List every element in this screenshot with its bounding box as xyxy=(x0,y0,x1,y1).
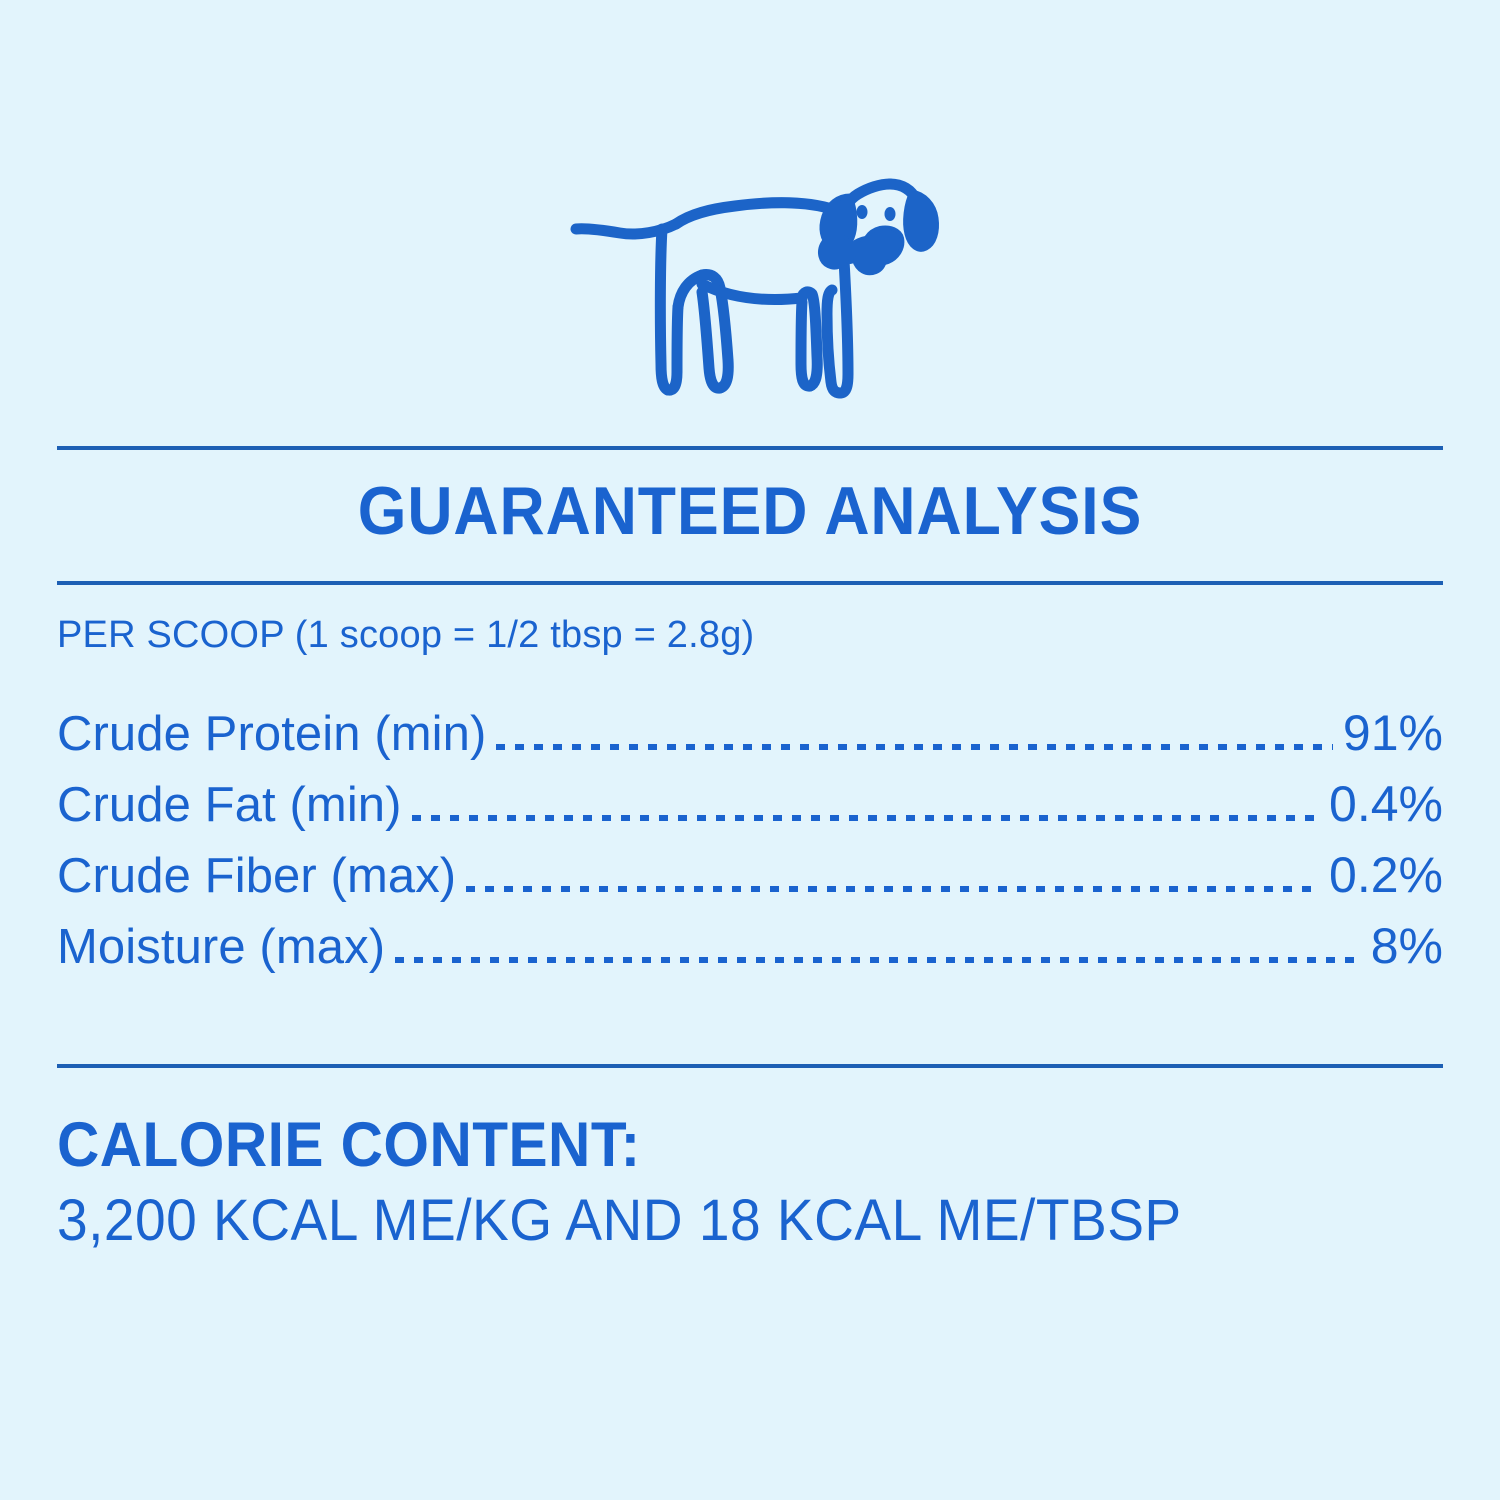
dog-with-bowtie-icon xyxy=(550,132,950,422)
dotted-leader xyxy=(496,749,1332,750)
nutrient-row-protein: Crude Protein (min) 91% xyxy=(57,704,1443,775)
divider-top xyxy=(57,446,1443,450)
guaranteed-analysis-panel: GUARANTEED ANALYSIS PER SCOOP (1 scoop =… xyxy=(0,0,1500,1500)
nutrient-value: 8% xyxy=(1371,917,1443,975)
divider-above-calories xyxy=(57,1064,1443,1068)
dotted-leader xyxy=(466,891,1319,892)
nutrient-label: Crude Fiber (max) xyxy=(57,847,456,905)
calorie-content-value: 3,200 KCAL ME/KG AND 18 KCAL ME/TBSP xyxy=(57,1186,1374,1256)
nutrient-row-fat: Crude Fat (min) 0.4% xyxy=(57,775,1443,846)
nutrient-list: Crude Protein (min) 91% Crude Fat (min) … xyxy=(57,704,1443,988)
nutrient-label: Moisture (max) xyxy=(57,918,385,976)
dotted-leader xyxy=(395,962,1361,963)
nutrient-value: 0.2% xyxy=(1329,846,1443,904)
serving-note: PER SCOOP (1 scoop = 1/2 tbsp = 2.8g) xyxy=(57,612,754,658)
dotted-leader xyxy=(412,820,1319,821)
page-title: GUARANTEED ANALYSIS xyxy=(112,472,1387,550)
nutrient-row-fiber: Crude Fiber (max) 0.2% xyxy=(57,846,1443,917)
calorie-content-section: CALORIE CONTENT: 3,200 KCAL ME/KG AND 18… xyxy=(57,1108,1443,1256)
dog-illustration xyxy=(0,132,1500,422)
calorie-content-heading: CALORIE CONTENT: xyxy=(57,1108,1346,1182)
nutrient-row-moisture: Moisture (max) 8% xyxy=(57,917,1443,988)
divider-below-title xyxy=(57,581,1443,585)
nutrient-value: 91% xyxy=(1343,704,1443,762)
nutrient-label: Crude Fat (min) xyxy=(57,776,402,834)
nutrient-value: 0.4% xyxy=(1329,775,1443,833)
nutrient-label: Crude Protein (min) xyxy=(57,705,486,763)
